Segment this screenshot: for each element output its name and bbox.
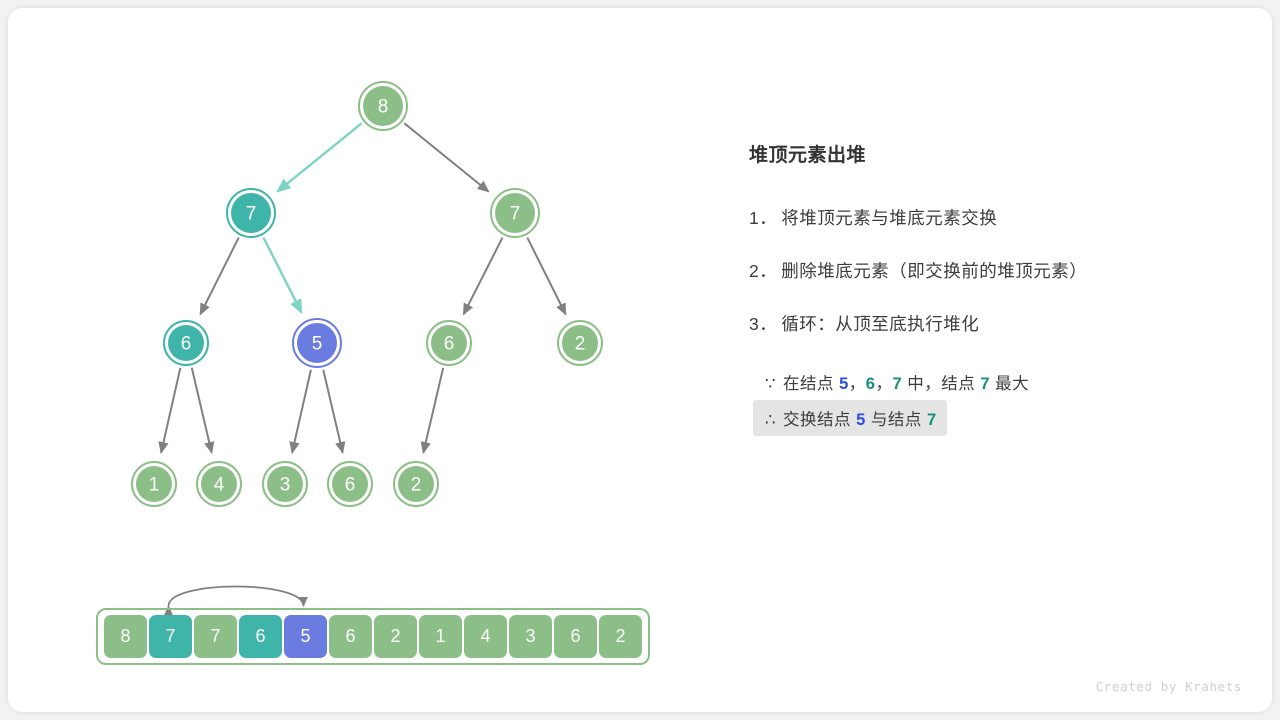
step-text: 删除堆底元素（即交换前的堆顶元素）	[781, 261, 1087, 281]
node-label: 6	[181, 334, 192, 355]
reason-value-teal: 7	[927, 411, 937, 429]
explanation-panel: 堆顶元素出堆 1．将堆顶元素与堆底元素交换2．删除堆底元素（即交换前的堆顶元素）…	[749, 140, 1249, 436]
array-cell-9[interactable]: 3	[509, 615, 552, 658]
logic-symbol-icon: ∵	[765, 375, 776, 393]
tree-node[interactable]: 6	[328, 462, 372, 506]
reason-text: ，	[849, 375, 866, 393]
node-label: 5	[312, 334, 323, 355]
reason-text: 在结点	[783, 375, 839, 393]
steps-list: 1．将堆顶元素与堆底元素交换2．删除堆底元素（即交换前的堆顶元素）3．循环：从顶…	[749, 205, 1249, 336]
array-cell-5[interactable]: 6	[329, 615, 372, 658]
node-label: 2	[411, 475, 422, 496]
array-cell-4[interactable]: 5	[284, 615, 327, 658]
tree-edge-n1-n3	[200, 238, 238, 315]
reason-text: 中，结点	[902, 375, 980, 393]
reason-value-teal: 7	[892, 375, 902, 393]
tree-node[interactable]: 6	[427, 321, 471, 365]
tree-node[interactable]: 7	[227, 189, 275, 237]
logic-symbol-icon: ∴	[765, 411, 776, 429]
reason-text: 与结点	[866, 411, 927, 429]
node-label: 1	[149, 475, 160, 496]
array-cell-11[interactable]: 2	[599, 615, 642, 658]
reasons-list: ∵在结点 5，6，7 中，结点 7 最大∴交换结点 5 与结点 7	[749, 364, 1249, 436]
reason-value-blue: 5	[856, 411, 866, 429]
page-title: 堆顶元素出堆	[749, 140, 1249, 167]
reason-row-1: ∵在结点 5，6，7 中，结点 7 最大	[749, 364, 1249, 400]
binary-tree-diagram: 877656214362	[8, 8, 708, 548]
tree-edge-n3-n8	[192, 368, 212, 453]
tree-nodes-group: 877656214362	[132, 82, 602, 506]
tree-node[interactable]: 6	[164, 321, 208, 365]
reason-highlighted: ∴交换结点 5 与结点 7	[753, 400, 947, 436]
node-label: 4	[214, 475, 225, 496]
step-number: 3．	[749, 314, 777, 334]
tree-edge-n5-n11	[423, 368, 443, 453]
tree-edge-n3-n7	[161, 368, 180, 453]
step-number: 2．	[749, 261, 777, 281]
tree-edge-n0-n2	[404, 123, 488, 191]
array-cell-1[interactable]: 7	[149, 615, 192, 658]
tree-edge-n2-n5	[463, 238, 502, 315]
tree-edge-n2-n6	[527, 238, 565, 315]
node-label: 2	[575, 334, 586, 355]
tree-node[interactable]: 7	[491, 189, 539, 237]
reason-text: ，	[875, 375, 892, 393]
diagram-card: 877656214362 堆顶元素出堆 1．将堆顶元素与堆底元素交换2．删除堆底…	[8, 8, 1272, 712]
credit-footer: Created by Krahets	[1096, 679, 1242, 694]
step-text: 将堆顶元素与堆底元素交换	[781, 208, 997, 228]
array-cell-10[interactable]: 6	[554, 615, 597, 658]
node-label: 7	[510, 204, 521, 225]
reason-premise: ∵在结点 5，6，7 中，结点 7 最大	[753, 364, 1039, 400]
reason-value-blue: 5	[839, 375, 849, 393]
node-label: 6	[345, 475, 356, 496]
step-item-2: 2．删除堆底元素（即交换前的堆顶元素）	[749, 258, 1249, 283]
tree-node[interactable]: 1	[132, 462, 176, 506]
tree-edges-group	[161, 123, 566, 453]
step-item-3: 3．循环：从顶至底执行堆化	[749, 311, 1249, 336]
array-cell-0[interactable]: 8	[104, 615, 147, 658]
tree-node[interactable]: 3	[263, 462, 307, 506]
array-cell-8[interactable]: 4	[464, 615, 507, 658]
tree-node[interactable]: 4	[197, 462, 241, 506]
tree-edge-n4-n10	[323, 370, 342, 453]
step-text: 循环：从顶至底执行堆化	[781, 314, 979, 334]
node-label: 8	[378, 97, 389, 118]
array-cell-2[interactable]: 7	[194, 615, 237, 658]
array-cell-3[interactable]: 6	[239, 615, 282, 658]
reason-row-2: ∴交换结点 5 与结点 7	[749, 400, 1249, 436]
array-cells-container: 877656214362	[96, 608, 650, 665]
reason-value-teal: 7	[980, 375, 990, 393]
tree-node[interactable]: 8	[359, 82, 407, 130]
step-item-1: 1．将堆顶元素与堆底元素交换	[749, 205, 1249, 230]
node-label: 3	[280, 475, 291, 496]
tree-node[interactable]: 5	[293, 319, 341, 367]
reason-text: 交换结点	[783, 411, 856, 429]
tree-edge-n4-n9	[292, 370, 311, 453]
array-cell-7[interactable]: 1	[419, 615, 462, 658]
tree-node[interactable]: 2	[558, 321, 602, 365]
step-number: 1．	[749, 208, 777, 228]
array-cell-6[interactable]: 2	[374, 615, 417, 658]
tree-node[interactable]: 2	[394, 462, 438, 506]
tree-edge-n1-n4	[263, 238, 301, 313]
node-label: 7	[246, 204, 257, 225]
tree-edge-n0-n1	[277, 123, 361, 191]
reason-text: 最大	[990, 375, 1029, 393]
node-label: 6	[444, 334, 455, 355]
